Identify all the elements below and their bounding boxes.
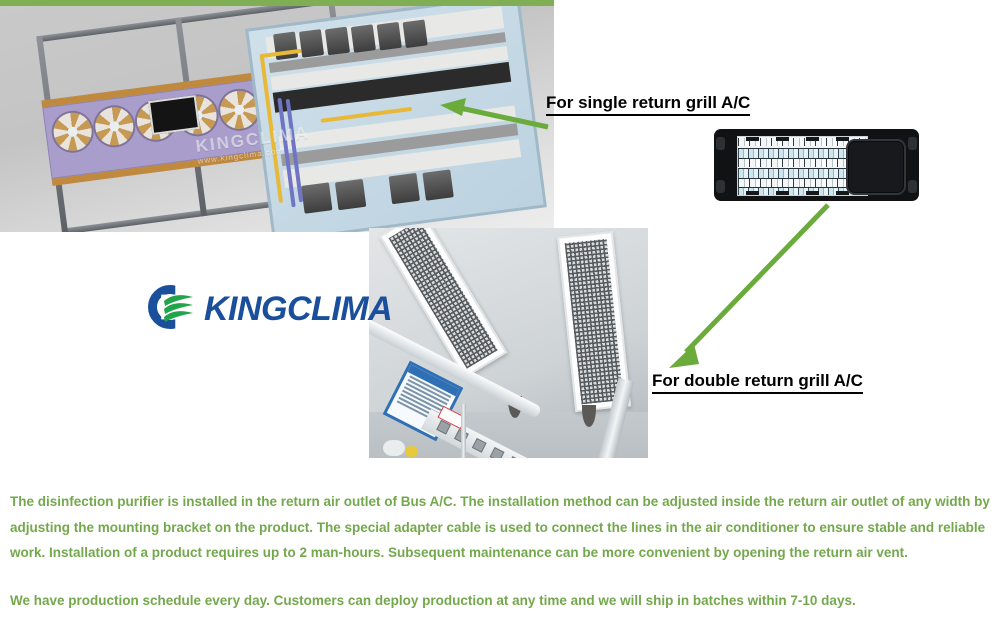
bus-ceiling-lamp [383,440,405,456]
cad-blower [325,27,350,56]
device-mount-lug [716,180,725,193]
device-mount-lug [908,180,917,193]
cad-blower [422,169,453,200]
cad-blower [377,22,402,51]
bus-ac-cad-assembly-image: KINGCLIMA www.kingclima.com [0,6,554,232]
cad-blower [389,173,420,204]
cad-evaporator-housing [245,6,547,232]
cad-blower [351,24,376,53]
cad-fan [93,105,136,148]
cad-blower [301,182,332,213]
cad-control-panel [148,95,200,135]
device-mount-lug [716,137,725,150]
bus-yellow-handle [405,446,418,457]
kingclima-wordmark: KINGCLIMA [204,289,392,329]
cad-blower [299,29,324,58]
description-text-block: The disinfection purifier is installed i… [10,489,995,613]
grill-mesh [565,239,624,405]
description-paragraph-2: We have production schedule every day. C… [10,588,995,614]
cad-blower [335,179,366,210]
kingclima-c-wave-logo-icon [148,285,200,333]
cad-fan [51,110,94,153]
device-connector-port [846,139,906,195]
disinfection-purifier-product-photo [714,129,919,201]
bus-grab-pole [461,404,466,458]
callout-double-return-grill: For double return grill A/C [652,371,863,394]
cad-blower [403,19,428,48]
kingclima-logo: KINGCLIMA [148,283,406,335]
description-paragraph-1: The disinfection purifier is installed i… [10,489,995,566]
callout-single-return-grill: For single return grill A/C [546,93,750,116]
device-mount-lug [908,137,917,150]
bus-interior-return-grill-photo [369,228,648,458]
air-nozzle [582,405,596,427]
